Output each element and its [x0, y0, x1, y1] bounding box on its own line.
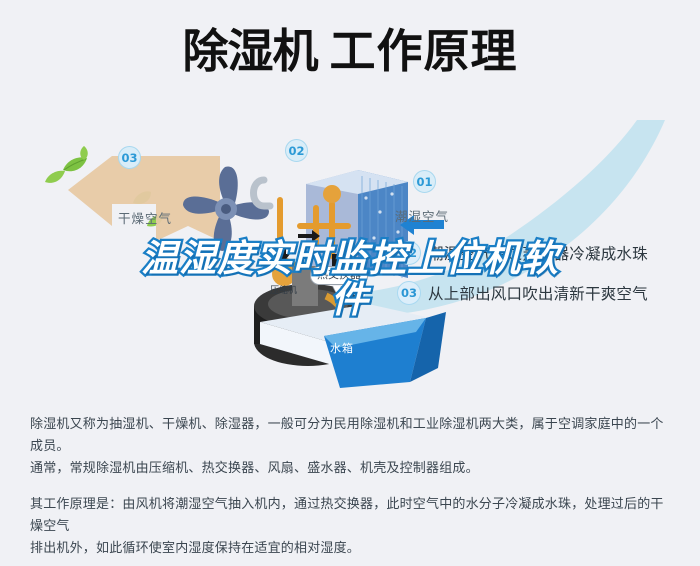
paragraph-gap — [30, 480, 674, 494]
label-dry-air: 干燥空气 — [118, 208, 172, 227]
page-title-part2: 工作原理 — [330, 24, 518, 78]
callout-tail-icon — [332, 286, 342, 295]
heat-exchanger-callout-label: 热交换器 — [317, 268, 361, 281]
paragraph-2-line-2: 排出机外，如此循环使室内湿度保持在适宜的相对湿度。 — [30, 541, 360, 556]
label-moist-air: 潮湿空气 — [395, 206, 449, 225]
paragraph-2-line-1: 其工作原理是：由风机将潮湿空气抽入机内，通过热交换器，此时空气中的水分子冷凝成水… — [30, 497, 664, 534]
diagram-badge-03: 03 — [118, 146, 141, 169]
paragraph-1-line-2: 通常，常规除湿机由压缩机、热交换器、风扇、盛水器、机壳及控制器组成。 — [30, 461, 479, 476]
paragraph-1-line-1: 除湿机又称为抽湿机、干燥机、除湿器，一般可分为民用除湿机和工业除湿机两大类，属于… — [30, 417, 664, 454]
list-item: 03 从上部出风口吹出清新干爽空气 — [397, 281, 687, 305]
body-copy: 除湿机又称为抽湿机、干燥机、除湿器，一般可分为民用除湿机和工业除湿机两大类，属于… — [30, 414, 674, 560]
paragraph-1: 除湿机又称为抽湿机、干燥机、除湿器，一般可分为民用除湿机和工业除湿机两大类，属于… — [30, 414, 674, 480]
heat-exchanger-callout: 热交换器 — [310, 266, 368, 285]
list-item-label: 从上部出风口吹出清新干爽空气 — [428, 282, 648, 304]
paragraph-2: 其工作原理是：由风机将潮湿空气抽入机内，通过热交换器，此时空气中的水分子冷凝成水… — [30, 494, 674, 560]
page-title-part1: 除湿机 — [183, 24, 318, 78]
list-item-label: 潮湿空气经过蒸发器冷凝成水珠 — [428, 242, 648, 264]
label-water-tank: 水箱 — [330, 340, 354, 356]
diagram-badge-01: 01 — [413, 170, 436, 193]
poster-canvas: 除湿机工作原理 — [0, 0, 700, 566]
diagram-badge-02: 02 — [285, 139, 308, 162]
list-item-number: 02 — [397, 241, 421, 265]
label-compressor: 压缩机 — [270, 283, 297, 296]
list-item: 02 潮湿空气经过蒸发器冷凝成水珠 — [397, 241, 687, 265]
principle-steps-list: 02 潮湿空气经过蒸发器冷凝成水珠 03 从上部出风口吹出清新干爽空气 — [397, 241, 687, 321]
page-title: 除湿机工作原理 — [0, 28, 700, 74]
list-item-number: 03 — [397, 281, 421, 305]
